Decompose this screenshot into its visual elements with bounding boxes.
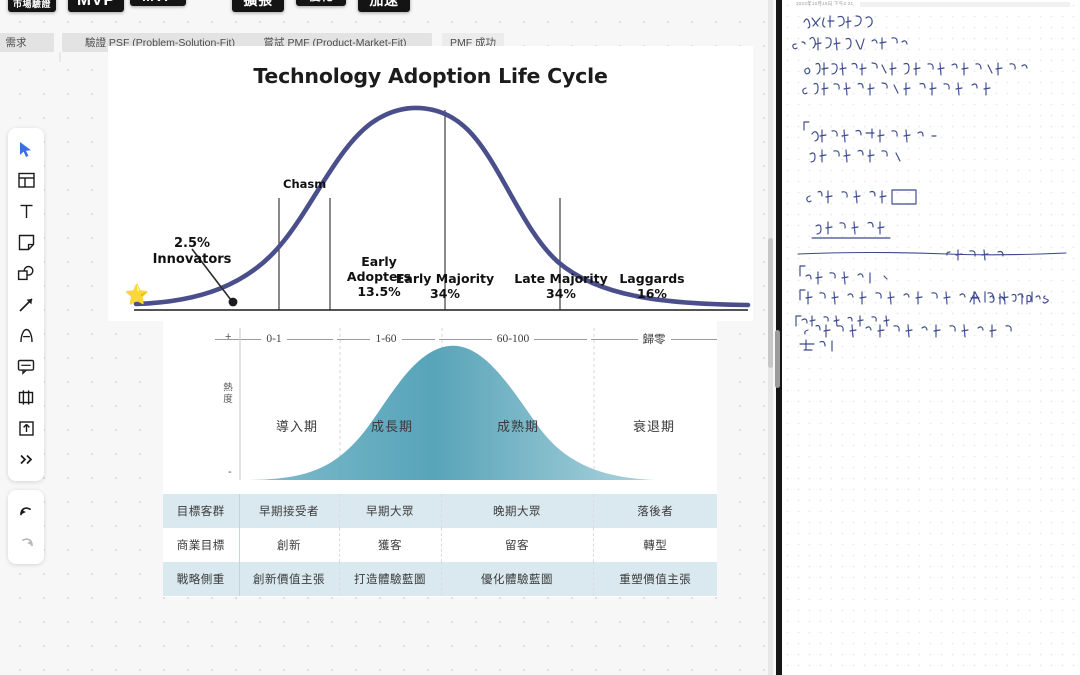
sticky-card-label: MVP — [77, 0, 115, 10]
pen-icon[interactable] — [12, 320, 40, 351]
life-cycle-curve-svg — [163, 320, 717, 494]
whiteboard-canvas[interactable]: 市場驗證 MVP MVP 擴張 優化 加速 需求 驗證 PSF (Problem… — [0, 0, 776, 675]
sticky-card-label: 市場驗證 — [13, 0, 51, 10]
undo-icon[interactable] — [12, 496, 40, 527]
segment-label-laggards: Laggards 16% — [563, 271, 741, 301]
stage-label-decline: 衰退期 — [595, 416, 713, 435]
stage-label-maturity: 成熟期 — [445, 416, 591, 435]
innovators-annotation: 2.5% Innovators — [132, 236, 252, 268]
table-cell: 轉型 — [593, 528, 717, 562]
handwriting-ink — [782, 0, 1080, 675]
sticky-card[interactable]: 市場驗證 — [8, 0, 56, 12]
table-row[interactable]: 戰略側重 創新價值主張 打造體驗藍圖 優化體驗藍圖 重塑價值主張 — [163, 562, 717, 596]
innovators-name: Innovators — [132, 252, 252, 268]
sticky-card-label: MVP — [142, 0, 174, 4]
sticky-note-icon[interactable] — [12, 227, 40, 258]
sticky-card[interactable]: 加速 — [358, 0, 410, 12]
lifecycle-strategy-table[interactable]: 目標客群 早期接受者 早期大眾 晚期大眾 落後者 商業目標 創新 獲客 留客 轉… — [163, 494, 717, 596]
row-header: 目標客群 — [163, 494, 239, 528]
table-cell: 落後者 — [593, 494, 717, 528]
table-cell: 晚期大眾 — [441, 494, 593, 528]
star-sticker-icon: ⭐ — [125, 286, 149, 305]
history-rail[interactable] — [8, 490, 44, 564]
stage-label-introduction: 導入期 — [251, 416, 343, 435]
table-cell: 創新 — [239, 528, 339, 562]
table-cell: 早期大眾 — [339, 494, 441, 528]
table-cell: 重塑價值主張 — [593, 562, 717, 596]
technology-adoption-life-cycle-figure[interactable]: Technology Adoption Life Cycle ⭐ 2.5% In… — [108, 46, 753, 321]
sticky-card[interactable]: 擴張 — [232, 0, 284, 12]
table-icon[interactable] — [12, 382, 40, 413]
row-header: 商業目標 — [163, 528, 239, 562]
table-cell: 獲客 — [339, 528, 441, 562]
canvas-scrollbar-thumb[interactable] — [768, 238, 773, 368]
frame-icon[interactable] — [12, 165, 40, 196]
table-cell: 留客 — [441, 528, 593, 562]
sticky-card-label: 擴張 — [244, 0, 273, 10]
row-header: 戰略側重 — [163, 562, 239, 596]
stage-label-growth: 成長期 — [343, 416, 441, 435]
sticky-card[interactable]: MVP — [68, 0, 124, 12]
table-cell: 創新價值主張 — [239, 562, 339, 596]
table-cell: 優化體驗藍圖 — [441, 562, 593, 596]
chasm-annotation: Chasm — [283, 177, 326, 191]
product-life-cycle-figure[interactable]: + - 熱度 0-1 1-60 60-100 — [163, 320, 717, 597]
redo-icon[interactable] — [12, 527, 40, 558]
sticky-card[interactable]: 優化 — [296, 0, 346, 6]
chevron-right-right-icon[interactable] — [12, 444, 40, 475]
phase-bar-label: 需求 — [6, 35, 27, 50]
comment-icon[interactable] — [12, 351, 40, 382]
sticky-card[interactable]: MVP — [130, 0, 186, 6]
tool-rail[interactable] — [8, 128, 44, 481]
table-row[interactable]: 商業目標 創新 獲客 留客 轉型 — [163, 528, 717, 562]
handwritten-notes-panel[interactable]: 2023年10月15日 下午2:21 — [782, 0, 1080, 675]
innovators-pct: 2.5% — [132, 236, 252, 252]
table-cell: 打造體驗藍圖 — [339, 562, 441, 596]
phase-bar-need[interactable]: 需求 — [0, 33, 54, 52]
shapes-icon[interactable] — [12, 258, 40, 289]
arrow-icon[interactable] — [12, 289, 40, 320]
notes-scrollbar-thumb[interactable] — [775, 330, 780, 388]
cursor-select-icon[interactable] — [12, 134, 40, 165]
upload-icon[interactable] — [12, 413, 40, 444]
table-cell: 早期接受者 — [239, 494, 339, 528]
text-icon[interactable] — [12, 196, 40, 227]
sticky-card-label: 加速 — [370, 0, 399, 10]
table-row[interactable]: 目標客群 早期接受者 早期大眾 晚期大眾 落後者 — [163, 494, 717, 528]
sticky-card-label: 優化 — [308, 0, 333, 4]
